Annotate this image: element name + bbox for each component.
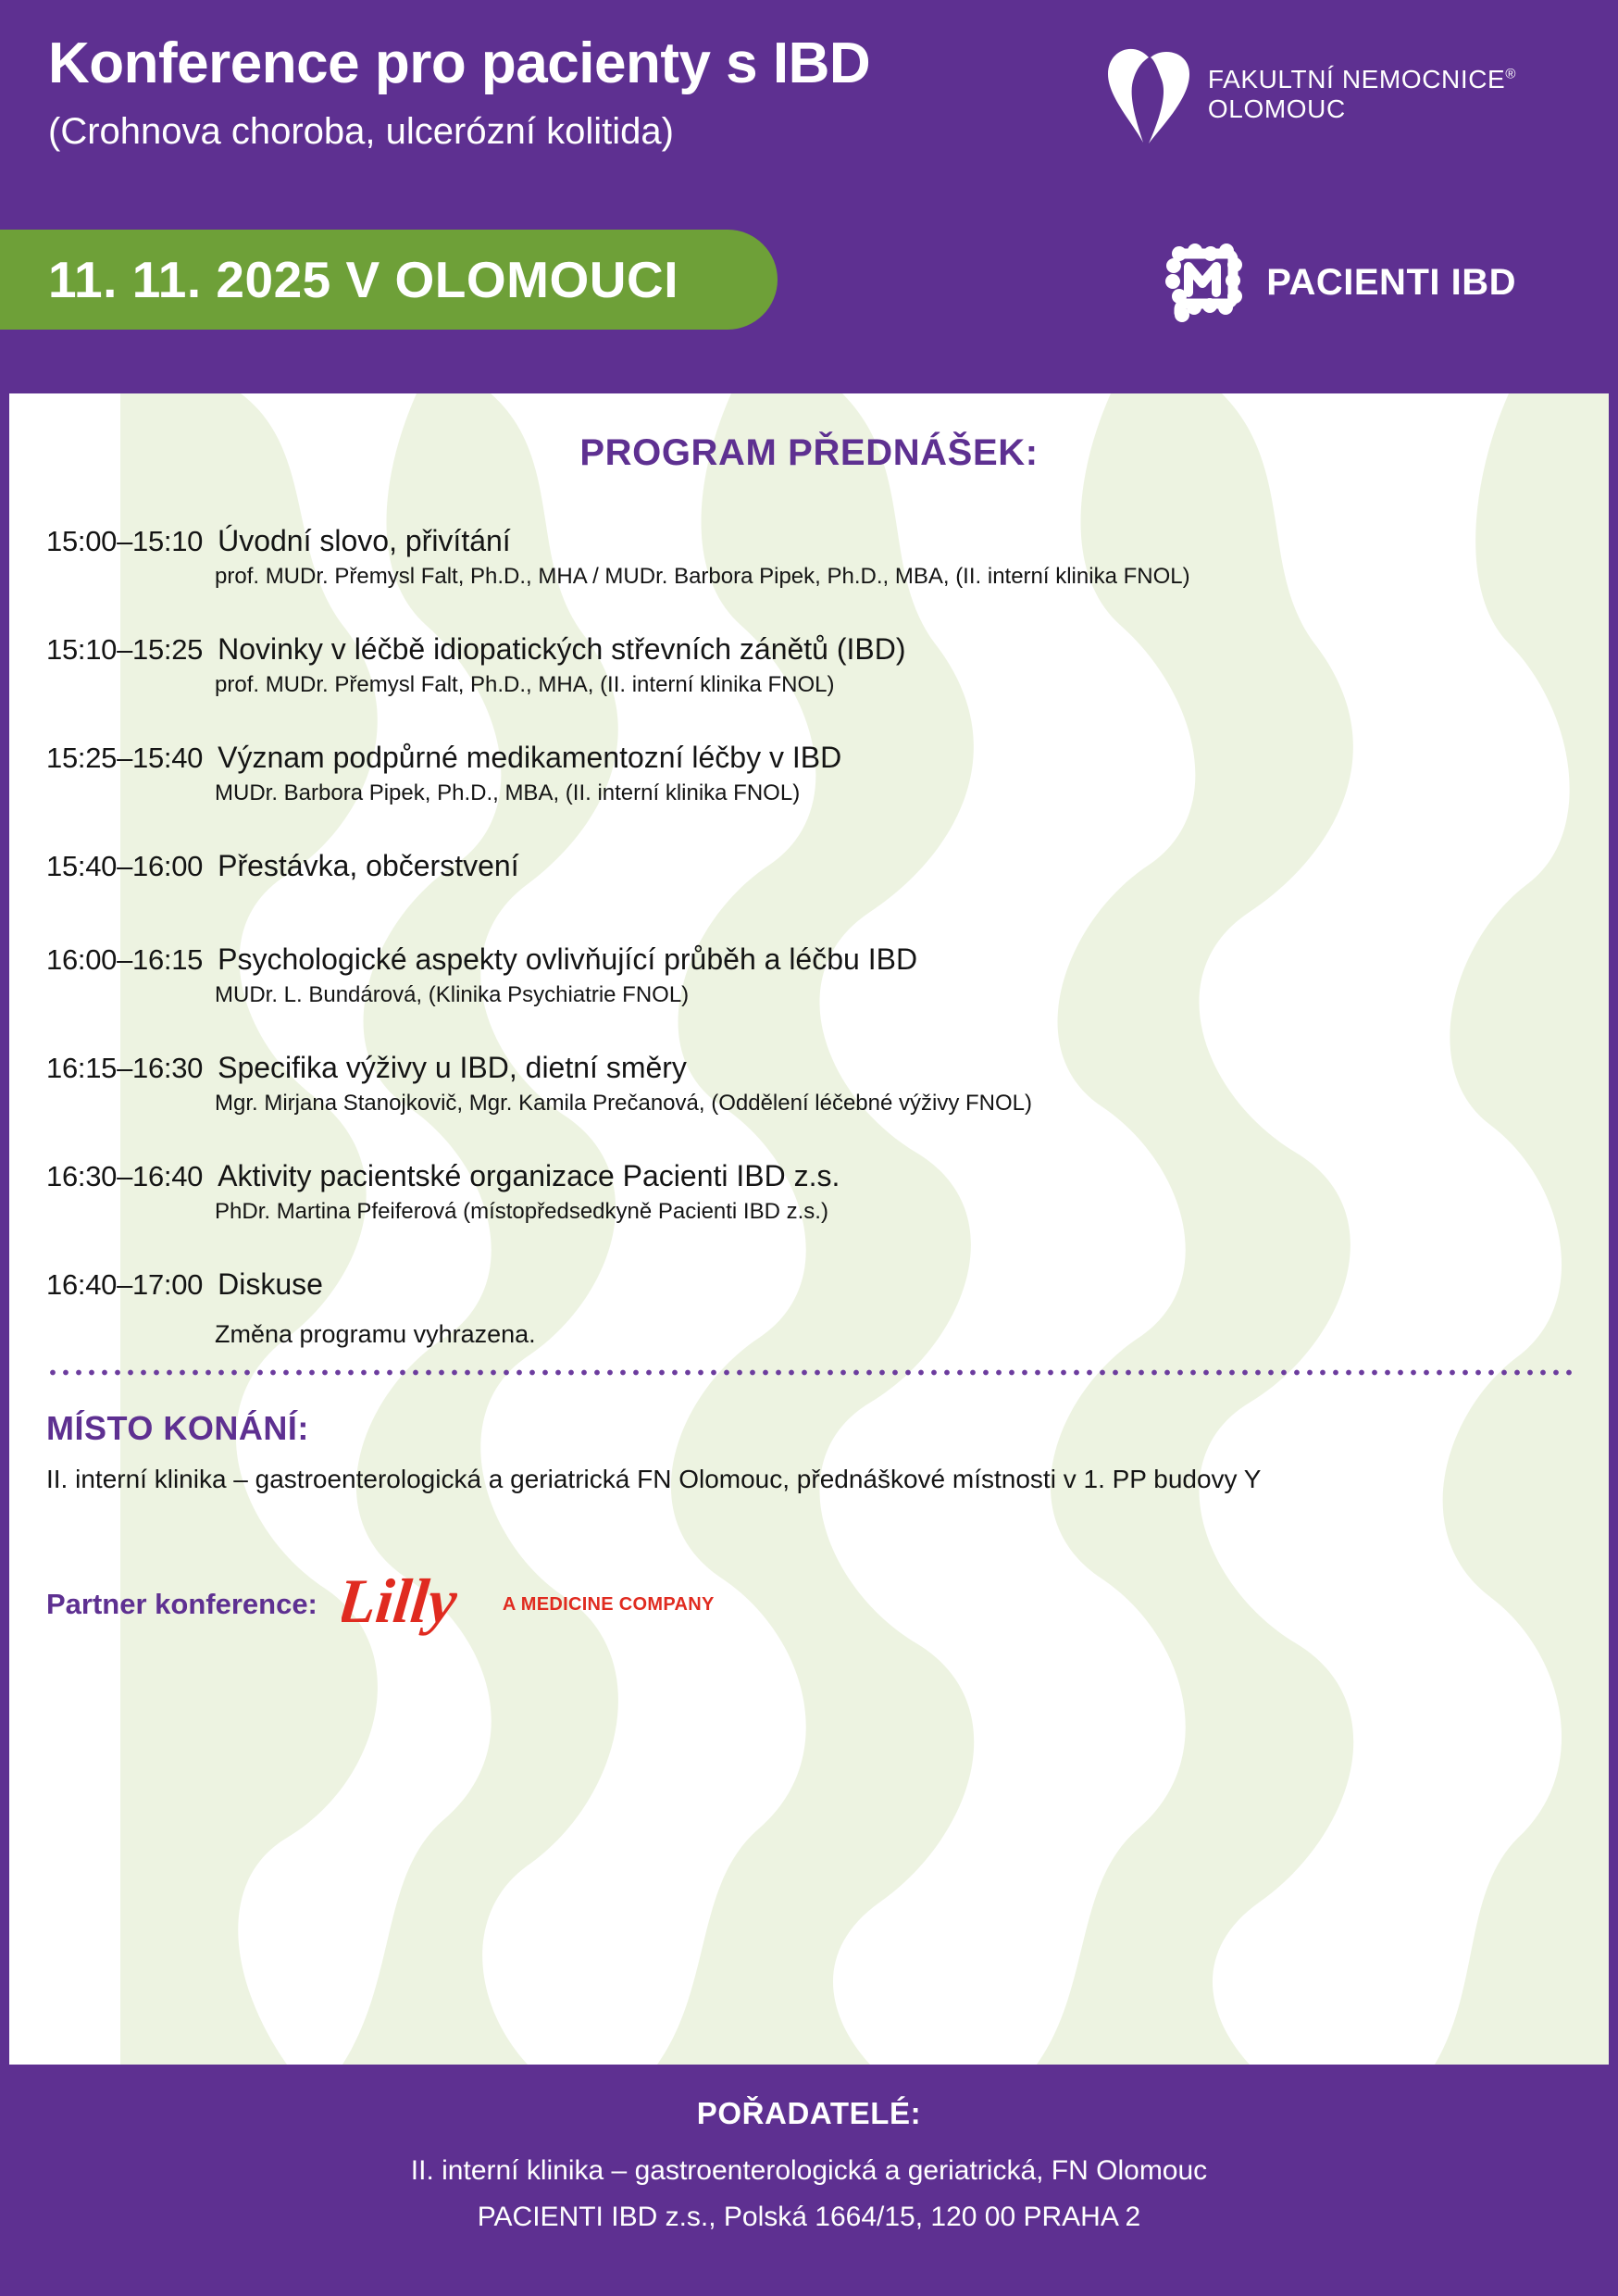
program-item-row: 15:10–15:25 Novinky v léčbě idiopatickýc… xyxy=(46,632,1572,667)
partner-label: Partner konference: xyxy=(46,1588,317,1621)
logo-fnol-label: FAKULTNÍ NEMOCNICE® OLOMOUC xyxy=(1208,65,1516,123)
page-title: Konference pro pacienty s IBD xyxy=(48,35,1020,93)
program-item-title: Novinky v léčbě idiopatických střevních … xyxy=(203,632,905,667)
program-item-row: 15:40–16:00 Přestávka, občerstvení xyxy=(46,849,1572,883)
program-item-title: Diskuse xyxy=(203,1267,323,1302)
program-item-title: Aktivity pacientské organizace Pacienti … xyxy=(203,1159,840,1193)
program-schedule: 15:00–15:10 Úvodní slovo, přivítání prof… xyxy=(46,524,1572,1349)
program-item-time: 15:10–15:25 xyxy=(46,633,203,667)
program-item-time: 16:30–16:40 xyxy=(46,1160,203,1193)
footer-organizer-2: PACIENTI IBD z.s., Polská 1664/15, 120 0… xyxy=(0,2202,1618,2233)
poster-header: Konference pro pacienty s IBD (Crohnova … xyxy=(0,0,1618,393)
partner-block: Partner konference: Lilly A MEDICINE COM… xyxy=(46,1565,1572,1644)
footer-heading: POŘADATELÉ: xyxy=(0,2096,1618,2131)
program-item-title: Specifika výživy u IBD, dietní směry xyxy=(203,1051,687,1085)
date-badge-label: 11. 11. 2025 V OLOMOUCI xyxy=(48,250,678,309)
logo-pacienti-ibd: PACIENTI IBD xyxy=(1161,239,1516,327)
heart-drop-icon xyxy=(1106,44,1191,144)
program-item-row: 16:00–16:15 Psychologické aspekty ovlivň… xyxy=(46,942,1572,977)
logo-fnol-line2: OLOMOUC xyxy=(1208,94,1346,123)
venue-address: II. interní klinika – gastroenterologick… xyxy=(46,1465,1572,1494)
program-item: 15:25–15:40 Význam podpůrné medikamentoz… xyxy=(46,741,1572,806)
program-item-row: 15:25–15:40 Význam podpůrné medikamentoz… xyxy=(46,741,1572,775)
program-item: 16:00–16:15 Psychologické aspekty ovlivň… xyxy=(46,942,1572,1008)
logo-fakultni-nemocnice-olomouc: FAKULTNÍ NEMOCNICE® OLOMOUC xyxy=(1106,44,1516,144)
program-item-speaker: PhDr. Martina Pfeiferová (místopředsedky… xyxy=(215,1199,1572,1225)
intestine-m-icon xyxy=(1161,239,1246,327)
program-item-speaker: prof. MUDr. Přemysl Falt, Ph.D., MHA / M… xyxy=(215,564,1572,590)
poster-footer: POŘADATELÉ: II. interní klinika – gastro… xyxy=(0,2065,1618,2296)
footer-organizer-1: II. interní klinika – gastroenterologick… xyxy=(0,2155,1618,2187)
page-subtitle: (Crohnova choroba, ulcerózní kolitida) xyxy=(48,113,1020,150)
program-disclaimer: Změna programu vyhrazena. xyxy=(215,1320,1572,1349)
paper-sheet: PROGRAM PŘEDNÁŠEK: 15:00–15:10 Úvodní sl… xyxy=(9,393,1609,2065)
lilly-tagline: A MEDICINE COMPANY xyxy=(503,1594,715,1616)
poster-body: PROGRAM PŘEDNÁŠEK: 15:00–15:10 Úvodní sl… xyxy=(0,393,1618,2065)
lilly-logo-icon: Lilly xyxy=(342,1565,484,1644)
dotted-divider xyxy=(46,1369,1572,1376)
logo-pacienti-ibd-label: PACIENTI IBD xyxy=(1266,262,1516,304)
program-item-time: 15:25–15:40 xyxy=(46,742,203,775)
program-item-row: 15:00–15:10 Úvodní slovo, přivítání xyxy=(46,524,1572,558)
program-item-speaker: prof. MUDr. Přemysl Falt, Ph.D., MHA, (I… xyxy=(215,672,1572,698)
program-item-time: 16:40–17:00 xyxy=(46,1268,203,1302)
program-item-speaker: MUDr. Barbora Pipek, Ph.D., MBA, (II. in… xyxy=(215,780,1572,806)
program-item: 16:30–16:40 Aktivity pacientské organiza… xyxy=(46,1159,1572,1225)
program-item: 15:40–16:00 Přestávka, občerstvení xyxy=(46,849,1572,883)
program-item-row: 16:15–16:30 Specifika výživy u IBD, diet… xyxy=(46,1051,1572,1085)
program-item-speaker: MUDr. L. Bundárová, (Klinika Psychiatrie… xyxy=(215,982,1572,1008)
registered-mark-icon: ® xyxy=(1505,67,1516,82)
program-item-speaker: Mgr. Mirjana Stanojkovič, Mgr. Kamila Pr… xyxy=(215,1091,1572,1117)
program-item-time: 16:00–16:15 xyxy=(46,943,203,977)
program-item: 15:00–15:10 Úvodní slovo, přivítání prof… xyxy=(46,524,1572,590)
program-item: 15:10–15:25 Novinky v léčbě idiopatickýc… xyxy=(46,632,1572,698)
program-item-row: 16:40–17:00 Diskuse xyxy=(46,1267,1572,1302)
program-item-title: Úvodní slovo, přivítání xyxy=(203,524,511,558)
logo-fnol-line1: FAKULTNÍ NEMOCNICE xyxy=(1208,65,1505,94)
date-badge: 11. 11. 2025 V OLOMOUCI xyxy=(0,230,778,330)
program-item-title: Přestávka, občerstvení xyxy=(203,849,518,883)
program-item-time: 15:00–15:10 xyxy=(46,525,203,558)
header-text-block: Konference pro pacienty s IBD (Crohnova … xyxy=(48,35,1020,150)
poster-root: Konference pro pacienty s IBD (Crohnova … xyxy=(0,0,1618,2296)
program-item-row: 16:30–16:40 Aktivity pacientské organiza… xyxy=(46,1159,1572,1193)
program-item-time: 16:15–16:30 xyxy=(46,1052,203,1085)
program-item: 16:40–17:00 Diskuse xyxy=(46,1267,1572,1302)
program-item-title: Psychologické aspekty ovlivňující průběh… xyxy=(203,942,917,977)
program-item-title: Význam podpůrné medikamentozní léčby v I… xyxy=(203,741,841,775)
venue-heading: MÍSTO KONÁNÍ: xyxy=(46,1409,1572,1448)
program-item: 16:15–16:30 Specifika výživy u IBD, diet… xyxy=(46,1051,1572,1117)
svg-text:Lilly: Lilly xyxy=(342,1566,461,1636)
content-column: PROGRAM PŘEDNÁŠEK: 15:00–15:10 Úvodní sl… xyxy=(9,393,1609,1644)
program-item-time: 15:40–16:00 xyxy=(46,850,203,883)
program-heading: PROGRAM PŘEDNÁŠEK: xyxy=(46,432,1572,474)
